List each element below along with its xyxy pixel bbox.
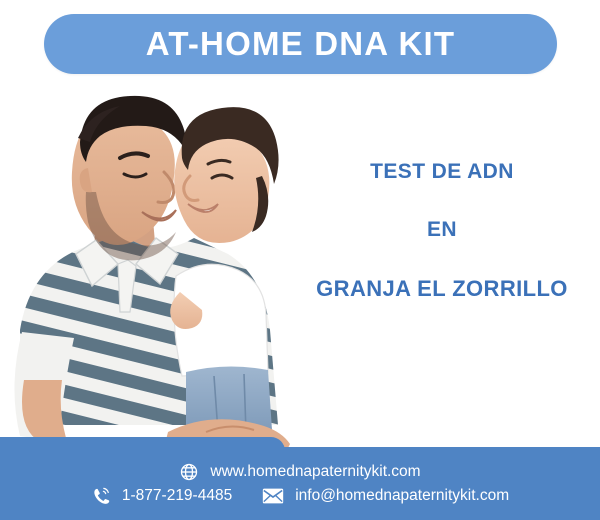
footer-row-website: www.homednapaternitykit.com [179, 462, 420, 482]
family-photo [0, 80, 310, 455]
headline-line-1: TEST DE ADN [292, 160, 592, 184]
headline-line-3: GRANJA EL ZORRILLO [292, 276, 592, 302]
email-link[interactable]: info@homednapaternitykit.com [262, 487, 509, 505]
phone-text: 1-877-219-4485 [122, 487, 232, 505]
page-title: AT-HOME DNA KIT [146, 25, 455, 63]
header-banner: AT-HOME DNA KIT [44, 14, 557, 74]
footer-row-phone-email: 1-877-219-4485 info@homednapaternitykit.… [91, 486, 509, 506]
globe-icon [179, 462, 199, 482]
website-text: www.homednapaternitykit.com [210, 463, 420, 481]
envelope-icon [262, 487, 284, 505]
phone-icon [91, 486, 111, 506]
phone-link[interactable]: 1-877-219-4485 [91, 486, 232, 506]
headline-block: TEST DE ADN EN GRANJA EL ZORRILLO [292, 160, 592, 302]
headline-line-2: EN [292, 218, 592, 242]
email-text: info@homednapaternitykit.com [295, 487, 509, 505]
footer-contact-rows: www.homednapaternitykit.com 1-877-219-44… [0, 447, 600, 520]
family-photo-illustration [0, 80, 310, 455]
website-link[interactable]: www.homednapaternitykit.com [179, 462, 420, 482]
